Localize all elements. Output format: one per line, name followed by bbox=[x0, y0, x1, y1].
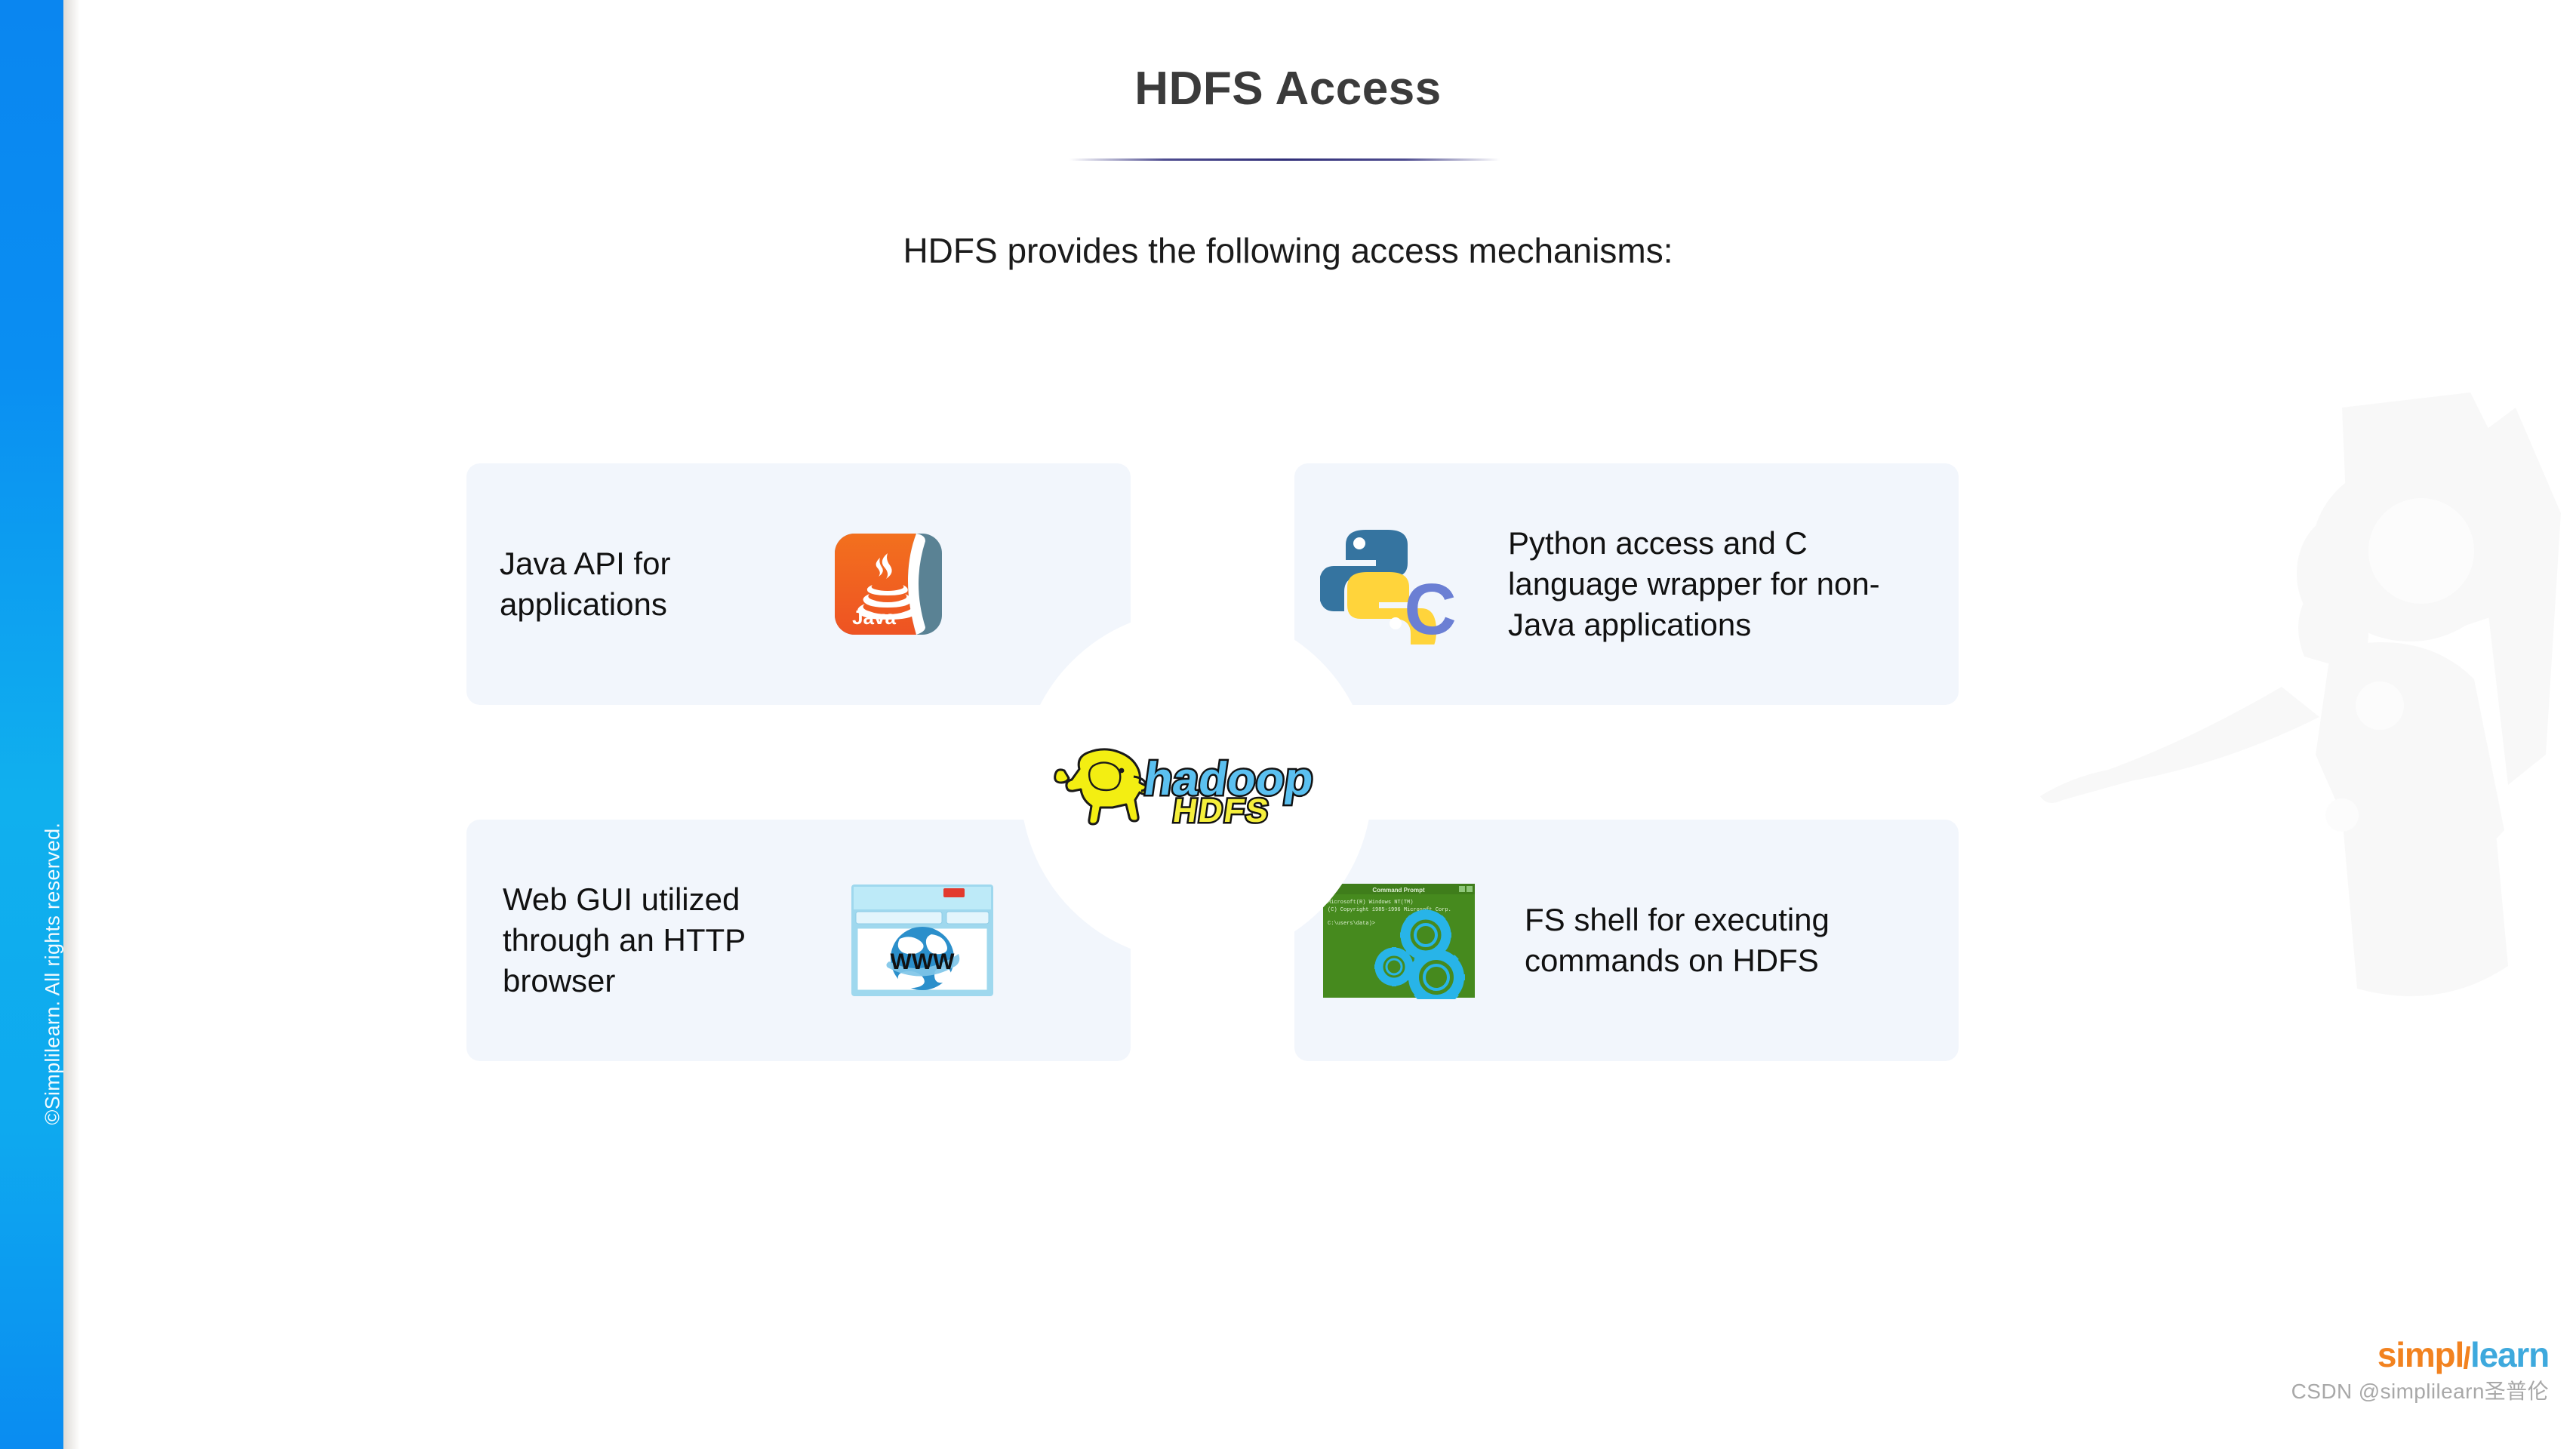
card-fs-shell[interactable]: FS shell for executing commands on HDFS … bbox=[1294, 820, 1959, 1061]
card-python-c-label: Python access and C language wrapper for… bbox=[1508, 523, 1931, 645]
python-c-logo-icon: C bbox=[1320, 524, 1460, 645]
sidebar-shadow bbox=[63, 0, 80, 1449]
page-title: HDFS Access bbox=[0, 62, 2576, 115]
terminal-title: Command Prompt bbox=[1372, 887, 1425, 894]
terminal-line-3: C:\users\data)> bbox=[1328, 921, 1375, 927]
brand-part-blue: learn bbox=[2470, 1335, 2549, 1374]
card-web-gui[interactable]: Web GUI utilized through an HTTP browser… bbox=[466, 820, 1131, 1061]
slide-root: ©Simplilearn. All rights reserved. HDFS … bbox=[0, 0, 2576, 1449]
card-java-api[interactable]: Java API for applications bbox=[466, 463, 1131, 705]
simplilearn-logo-icon: simpllearn bbox=[2291, 1337, 2549, 1372]
brand-part-orange: simpl bbox=[2377, 1335, 2464, 1374]
web-browser-globe-icon: WWW bbox=[847, 880, 998, 1001]
www-label: WWW bbox=[891, 949, 956, 974]
simplilearn-brand: simpllearn CSDN @simplilearn圣普伦 bbox=[2291, 1337, 2549, 1405]
csdn-watermark: CSDN @simplilearn圣普伦 bbox=[2291, 1375, 2549, 1405]
hadoop-hdfs-logo: hadoop HDFS bbox=[1049, 736, 1343, 838]
card-web-gui-label: Web GUI utilized through an HTTP browser bbox=[503, 879, 842, 1001]
hdfs-wordmark: HDFS bbox=[1171, 792, 1273, 829]
card-fs-shell-label: FS shell for executing commands on HDFS bbox=[1525, 900, 1842, 981]
java-logo-icon: Java bbox=[832, 528, 945, 641]
terminal-line-1: Microsoft(R) Windows NT(TM) bbox=[1328, 900, 1413, 906]
c-language-glyph: C bbox=[1404, 569, 1456, 645]
command-prompt-gears-icon: Command Prompt Microsoft(R) Windows NT(T… bbox=[1322, 882, 1476, 999]
robot-watermark-icon bbox=[1987, 362, 2576, 1041]
card-python-c[interactable]: Python access and C language wrapper for… bbox=[1294, 463, 1959, 705]
brand-tick-icon bbox=[2464, 1346, 2470, 1369]
hdfs-word: HDFS bbox=[1171, 792, 1273, 829]
slide-subtitle: HDFS provides the following access mecha… bbox=[0, 230, 2576, 271]
copyright-text: ©Simplilearn. All rights reserved. bbox=[42, 521, 65, 1125]
card-java-api-label: Java API for applications bbox=[500, 543, 824, 625]
java-icon-label: Java bbox=[852, 606, 896, 629]
title-divider bbox=[1069, 158, 1500, 161]
hadoop-elephant-icon bbox=[1055, 749, 1151, 824]
left-sidebar: ©Simplilearn. All rights reserved. bbox=[0, 0, 63, 1449]
